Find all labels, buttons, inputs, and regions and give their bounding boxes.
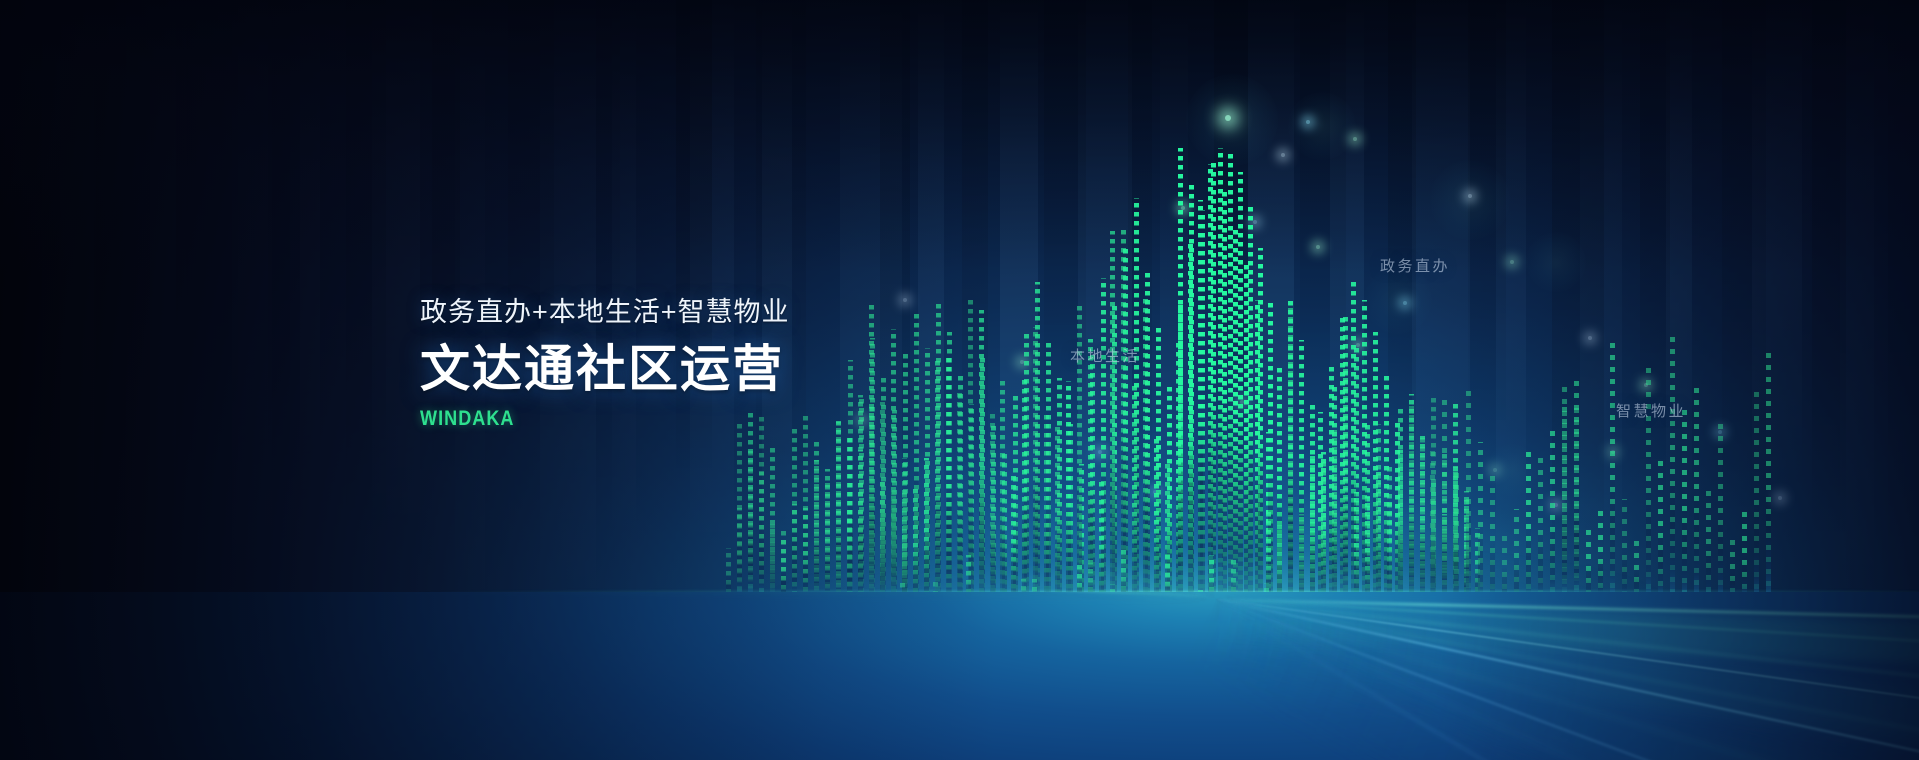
hero-banner: 政务直办本地生活智慧物业 政务直办+本地生活+智慧物业 文达通社区运营 WIND… [0,0,1919,760]
skyline-bar [1121,229,1126,600]
skyline-bar [1198,200,1203,600]
skyline-bar [1238,172,1243,600]
skyline-label-2: 本地生活 [1070,345,1140,366]
skyline-bar [1208,164,1213,600]
perspective-floor [0,592,1919,760]
banner-subtitle: 政务直办+本地生活+智慧物业 [420,296,790,330]
skyline-bar [1248,204,1253,600]
skyline-label-3: 智慧物业 [1616,400,1686,421]
skyline-label-1: 政务直办 [1380,255,1450,276]
skyline-bar [1188,244,1193,600]
floor-right-shade [0,592,1919,760]
banner-title: 文达通社区运营 [420,340,790,398]
skyline-bar [1218,148,1223,600]
skyline-bar [1228,152,1233,600]
skyline-bar [1110,231,1115,600]
brand-wordmark: WINDAKA [420,407,738,431]
headline-block: 政务直办+本地生活+智慧物业 文达通社区运营 WINDAKA [420,296,790,431]
